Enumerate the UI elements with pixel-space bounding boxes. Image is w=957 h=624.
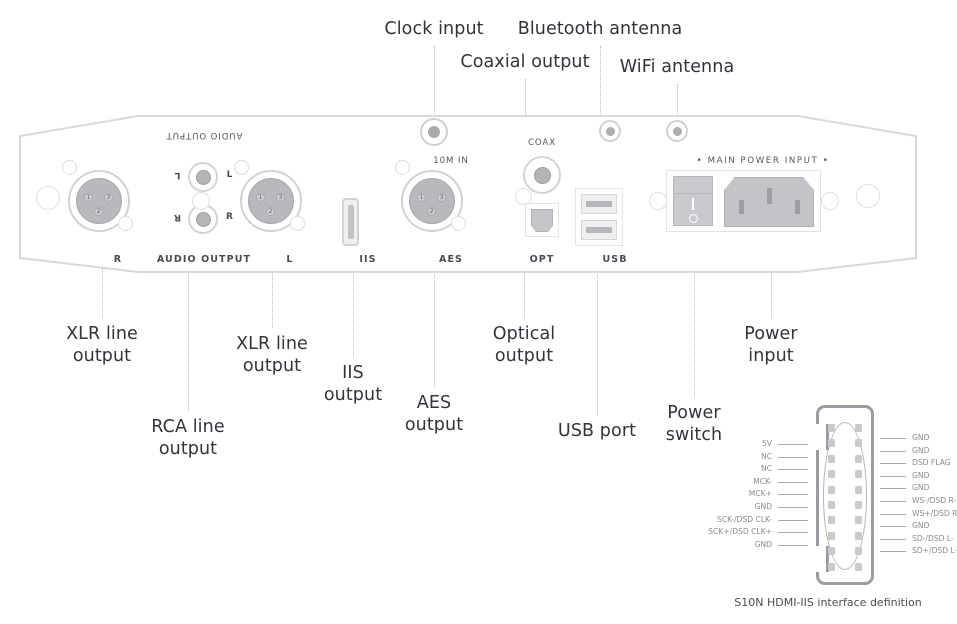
silk-coax: COAX (528, 138, 556, 148)
xlr-barrel: 1 3 2 (409, 178, 455, 224)
usb-tongue (586, 227, 612, 233)
rca-mark-l: L (227, 170, 234, 180)
callout-rca-line-output: RCA line output (151, 416, 224, 461)
hdmi-pin-right-1 (855, 424, 862, 432)
hdmi-pin-right-5 (855, 486, 862, 494)
xlr-screw-l-top (234, 160, 249, 175)
antenna-center-pin (606, 127, 615, 136)
pin-lead-right-7 (880, 514, 906, 515)
pin-label-left-6: GND (755, 503, 772, 511)
power-screw-left (649, 192, 667, 210)
pin-label-left-4: MCK- (753, 478, 772, 486)
xlr-pin-2: 2 (266, 207, 275, 216)
hdmi-pin-right-3 (855, 455, 862, 463)
xlr-screw-r-bottom (118, 216, 133, 231)
pin-lead-right-5 (880, 488, 906, 489)
power-screw-right (821, 192, 839, 210)
pin-lead-left-2 (778, 457, 808, 458)
pin-label-right-1: GND (912, 434, 929, 442)
leader-line-iis-output (353, 268, 354, 357)
leader-line-usb-port (597, 268, 598, 415)
pin-lead-right-9 (880, 539, 906, 540)
pin-label-left-2: NC (761, 453, 772, 461)
rear-panel: AUDIO OUTPUT 1 3 2 L R L R 1 3 2 10M IN (18, 108, 918, 278)
panel-label-usb: USB (602, 254, 627, 265)
iec-pin-earth (767, 188, 772, 204)
xlr-pin-3: 3 (437, 193, 446, 202)
rca-center-pin (196, 170, 211, 185)
pin-lead-left-9 (778, 545, 808, 546)
callout-xlr-line-output-l: XLR line output (236, 333, 308, 378)
hdmi-pin-right-4 (855, 470, 862, 478)
xlr-pin-1: 1 (256, 193, 265, 202)
rca-jack-left-l[interactable] (188, 162, 218, 192)
hdmi-pin-left-2 (828, 439, 835, 447)
power-inlet-block (666, 170, 821, 232)
pin-label-right-6: WS-/DSD R- (912, 497, 956, 505)
pin-lead-right-2 (880, 451, 906, 452)
pin-lead-right-3 (880, 463, 906, 464)
pin-label-left-9: GND (755, 541, 772, 549)
pin-label-right-7: WS+/DSD R+ (912, 510, 957, 518)
iec-power-socket[interactable] (724, 177, 814, 227)
pin-label-left-8: SCK+/DSD CLK+ (708, 528, 772, 536)
hdmi-slot (348, 205, 354, 239)
callout-power-input: Power input (744, 323, 797, 368)
pin-label-left-5: MCK+ (749, 491, 772, 499)
xlr-pin-2: 2 (94, 207, 103, 216)
panel-label-audio-output: AUDIO OUTPUT (157, 254, 251, 265)
rca-mark-r-rot: R (173, 212, 181, 222)
hdmi-pin-right-2 (855, 439, 862, 447)
hdmi-pin-column-right (855, 424, 862, 568)
xlr-barrel: 1 3 2 (76, 178, 122, 224)
xlr-pin-3: 3 (104, 193, 113, 202)
pin-label-right-10: SD+/DSD L+ (912, 548, 957, 556)
pin-label-left-7: SCK-/DSD CLK- (717, 516, 772, 524)
panel-label-l: L (286, 254, 293, 265)
rca-screw (192, 192, 210, 210)
optical-output-port[interactable] (525, 203, 559, 237)
panel-label-aes: AES (439, 254, 463, 265)
usb-port-lower[interactable] (581, 220, 617, 240)
pin-label-right-3: DSD FLAG (912, 459, 951, 467)
callout-optical-output: Optical output (493, 323, 556, 368)
rca-mark-l-rot: L (174, 170, 181, 180)
rca-mark-r: R (226, 212, 234, 222)
pin-label-right-5: GND (912, 485, 929, 493)
silk-10m-in: 10M IN (433, 156, 468, 166)
panel-label-opt: OPT (530, 254, 555, 265)
iec-pin-live (739, 200, 744, 214)
pin-label-right-9: SD-/DSD L- (912, 535, 954, 543)
xlr-pin-2: 2 (427, 207, 436, 216)
callout-coaxial-output: Coaxial output (460, 51, 589, 73)
xlr-screw-l-bottom (290, 216, 305, 231)
panel-screw-left (36, 186, 60, 210)
pin-lead-right-1 (880, 438, 906, 439)
coaxial-output-jack[interactable] (523, 156, 561, 194)
callout-wifi-antenna: WiFi antenna (620, 56, 735, 78)
pinout-caption: S10N HDMI-IIS interface definition (734, 596, 921, 609)
pin-lead-right-10 (880, 551, 906, 552)
aes-screw-top (395, 160, 410, 175)
callout-xlr-line-output-r: XLR line output (66, 323, 138, 368)
callout-clock-input: Clock input (384, 18, 483, 40)
usb-port-block[interactable] (575, 188, 623, 246)
antenna-center-pin (673, 127, 682, 136)
xlr-pin-1: 1 (417, 193, 426, 202)
hdmi-pin-left-9 (828, 547, 835, 555)
bluetooth-antenna-connector[interactable] (599, 120, 621, 142)
hdmi-iis-pinout-diagram: 5VNCNCMCK-MCK+GNDSCK-/DSD CLK-SCK+/DSD C… (700, 400, 957, 620)
panel-label-iis: IIS (359, 254, 376, 265)
pin-lead-right-4 (880, 476, 906, 477)
hdmi-pin-left-6 (828, 501, 835, 509)
hdmi-pin-left-1 (828, 424, 835, 432)
rocker-upper-face (674, 177, 712, 194)
pin-lead-left-5 (778, 494, 808, 495)
hdmi-pin-right-10 (855, 563, 862, 571)
usb-tongue (586, 201, 612, 207)
iis-hdmi-port[interactable] (342, 198, 359, 246)
iec-pin-neutral (795, 200, 800, 214)
hdmi-pin-left-5 (828, 486, 835, 494)
hdmi-pin-left-7 (828, 516, 835, 524)
pin-lead-right-6 (880, 501, 906, 502)
pin-lead-left-7 (778, 520, 808, 521)
hdmi-pin-left-4 (828, 470, 835, 478)
leader-line-aes-output (434, 268, 435, 387)
callout-usb-port: USB port (558, 420, 636, 442)
xlr-screw-r-top (62, 160, 77, 175)
xlr-pin-3: 3 (276, 193, 285, 202)
wifi-antenna-connector[interactable] (666, 120, 688, 142)
callout-iis-output: IIS output (324, 362, 382, 407)
callout-aes-output: AES output (405, 392, 463, 437)
rca-center-pin (196, 212, 211, 227)
silk-audio-output-top: AUDIO OUTPUT (166, 130, 243, 140)
pin-lead-left-6 (778, 507, 808, 508)
hdmi-pin-right-6 (855, 501, 862, 509)
silk-main-power-input: • MAIN POWER INPUT • (697, 156, 830, 166)
callout-bluetooth-antenna: Bluetooth antenna (518, 18, 683, 40)
aes-screw-bottom (451, 216, 466, 231)
hdmi-pin-left-8 (828, 532, 835, 540)
coax-center-pin (534, 167, 551, 184)
pin-lead-left-8 (778, 532, 808, 533)
pin-lead-left-4 (778, 482, 808, 483)
hdmi-pin-right-9 (855, 547, 862, 555)
hdmi-pin-left-3 (828, 455, 835, 463)
pin-label-left-1: 5V (762, 440, 772, 448)
xlr-pin-1: 1 (84, 193, 93, 202)
panel-screw-right (856, 184, 880, 208)
clock-input-bnc[interactable] (420, 118, 448, 146)
hdmi-pin-column-left (828, 424, 835, 568)
bnc-center-pin (428, 126, 440, 138)
pin-label-left-3: NC (761, 465, 772, 473)
pin-label-right-8: GND (912, 522, 929, 530)
xlr-barrel: 1 3 2 (248, 178, 294, 224)
pin-label-right-4: GND (912, 472, 929, 480)
pin-lead-left-1 (778, 444, 808, 445)
toslink-shutter (531, 209, 553, 232)
power-switch-rocker[interactable] (673, 176, 713, 226)
hdmi-pin-right-8 (855, 532, 862, 540)
pin-lead-left-3 (778, 469, 808, 470)
power-off-mark-icon (689, 214, 698, 223)
pin-lead-right-8 (880, 526, 906, 527)
power-on-mark-icon (692, 198, 694, 210)
usb-port-upper[interactable] (581, 194, 617, 214)
pin-label-right-2: GND (912, 447, 929, 455)
hdmi-pin-right-7 (855, 516, 862, 524)
panel-label-r: R (114, 254, 122, 265)
hdmi-pin-left-10 (828, 563, 835, 571)
